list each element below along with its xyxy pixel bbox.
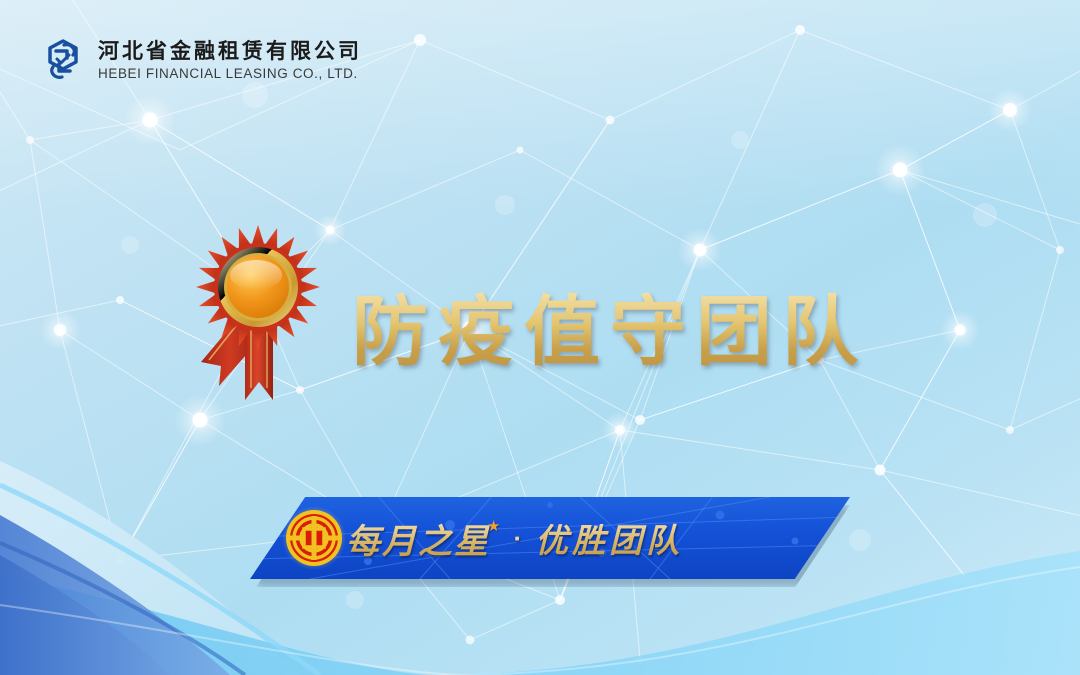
award-title-text: 防疫值守团队 xyxy=(352,270,868,380)
award-rosette-ribbon-icon xyxy=(183,222,333,402)
hebei-financial-leasing-logo-icon xyxy=(38,36,88,86)
company-name-cn: 河北省金融租赁有限公司 xyxy=(98,41,362,62)
company-name-en: HEBEI FINANCIAL LEASING CO., LTD. xyxy=(98,67,362,81)
banner-separator: · xyxy=(513,523,522,554)
banner-text-secondary: 优胜团队 xyxy=(535,514,683,562)
banner-parallelogram: 每月之星 ★ · 优胜团队 xyxy=(250,497,850,579)
award-slide: 河北省金融租赁有限公司 HEBEI FINANCIAL LEASING CO.,… xyxy=(0,0,1080,675)
banner-star-icon: ★ xyxy=(487,517,500,535)
award-title: 防疫值守团队 xyxy=(352,279,868,371)
company-logo: 河北省金融租赁有限公司 HEBEI FINANCIAL LEASING CO.,… xyxy=(38,36,362,86)
banner-text-primary: 每月之星 xyxy=(346,514,490,563)
award-banner: 每月之星 ★ · 优胜团队 xyxy=(250,497,850,587)
